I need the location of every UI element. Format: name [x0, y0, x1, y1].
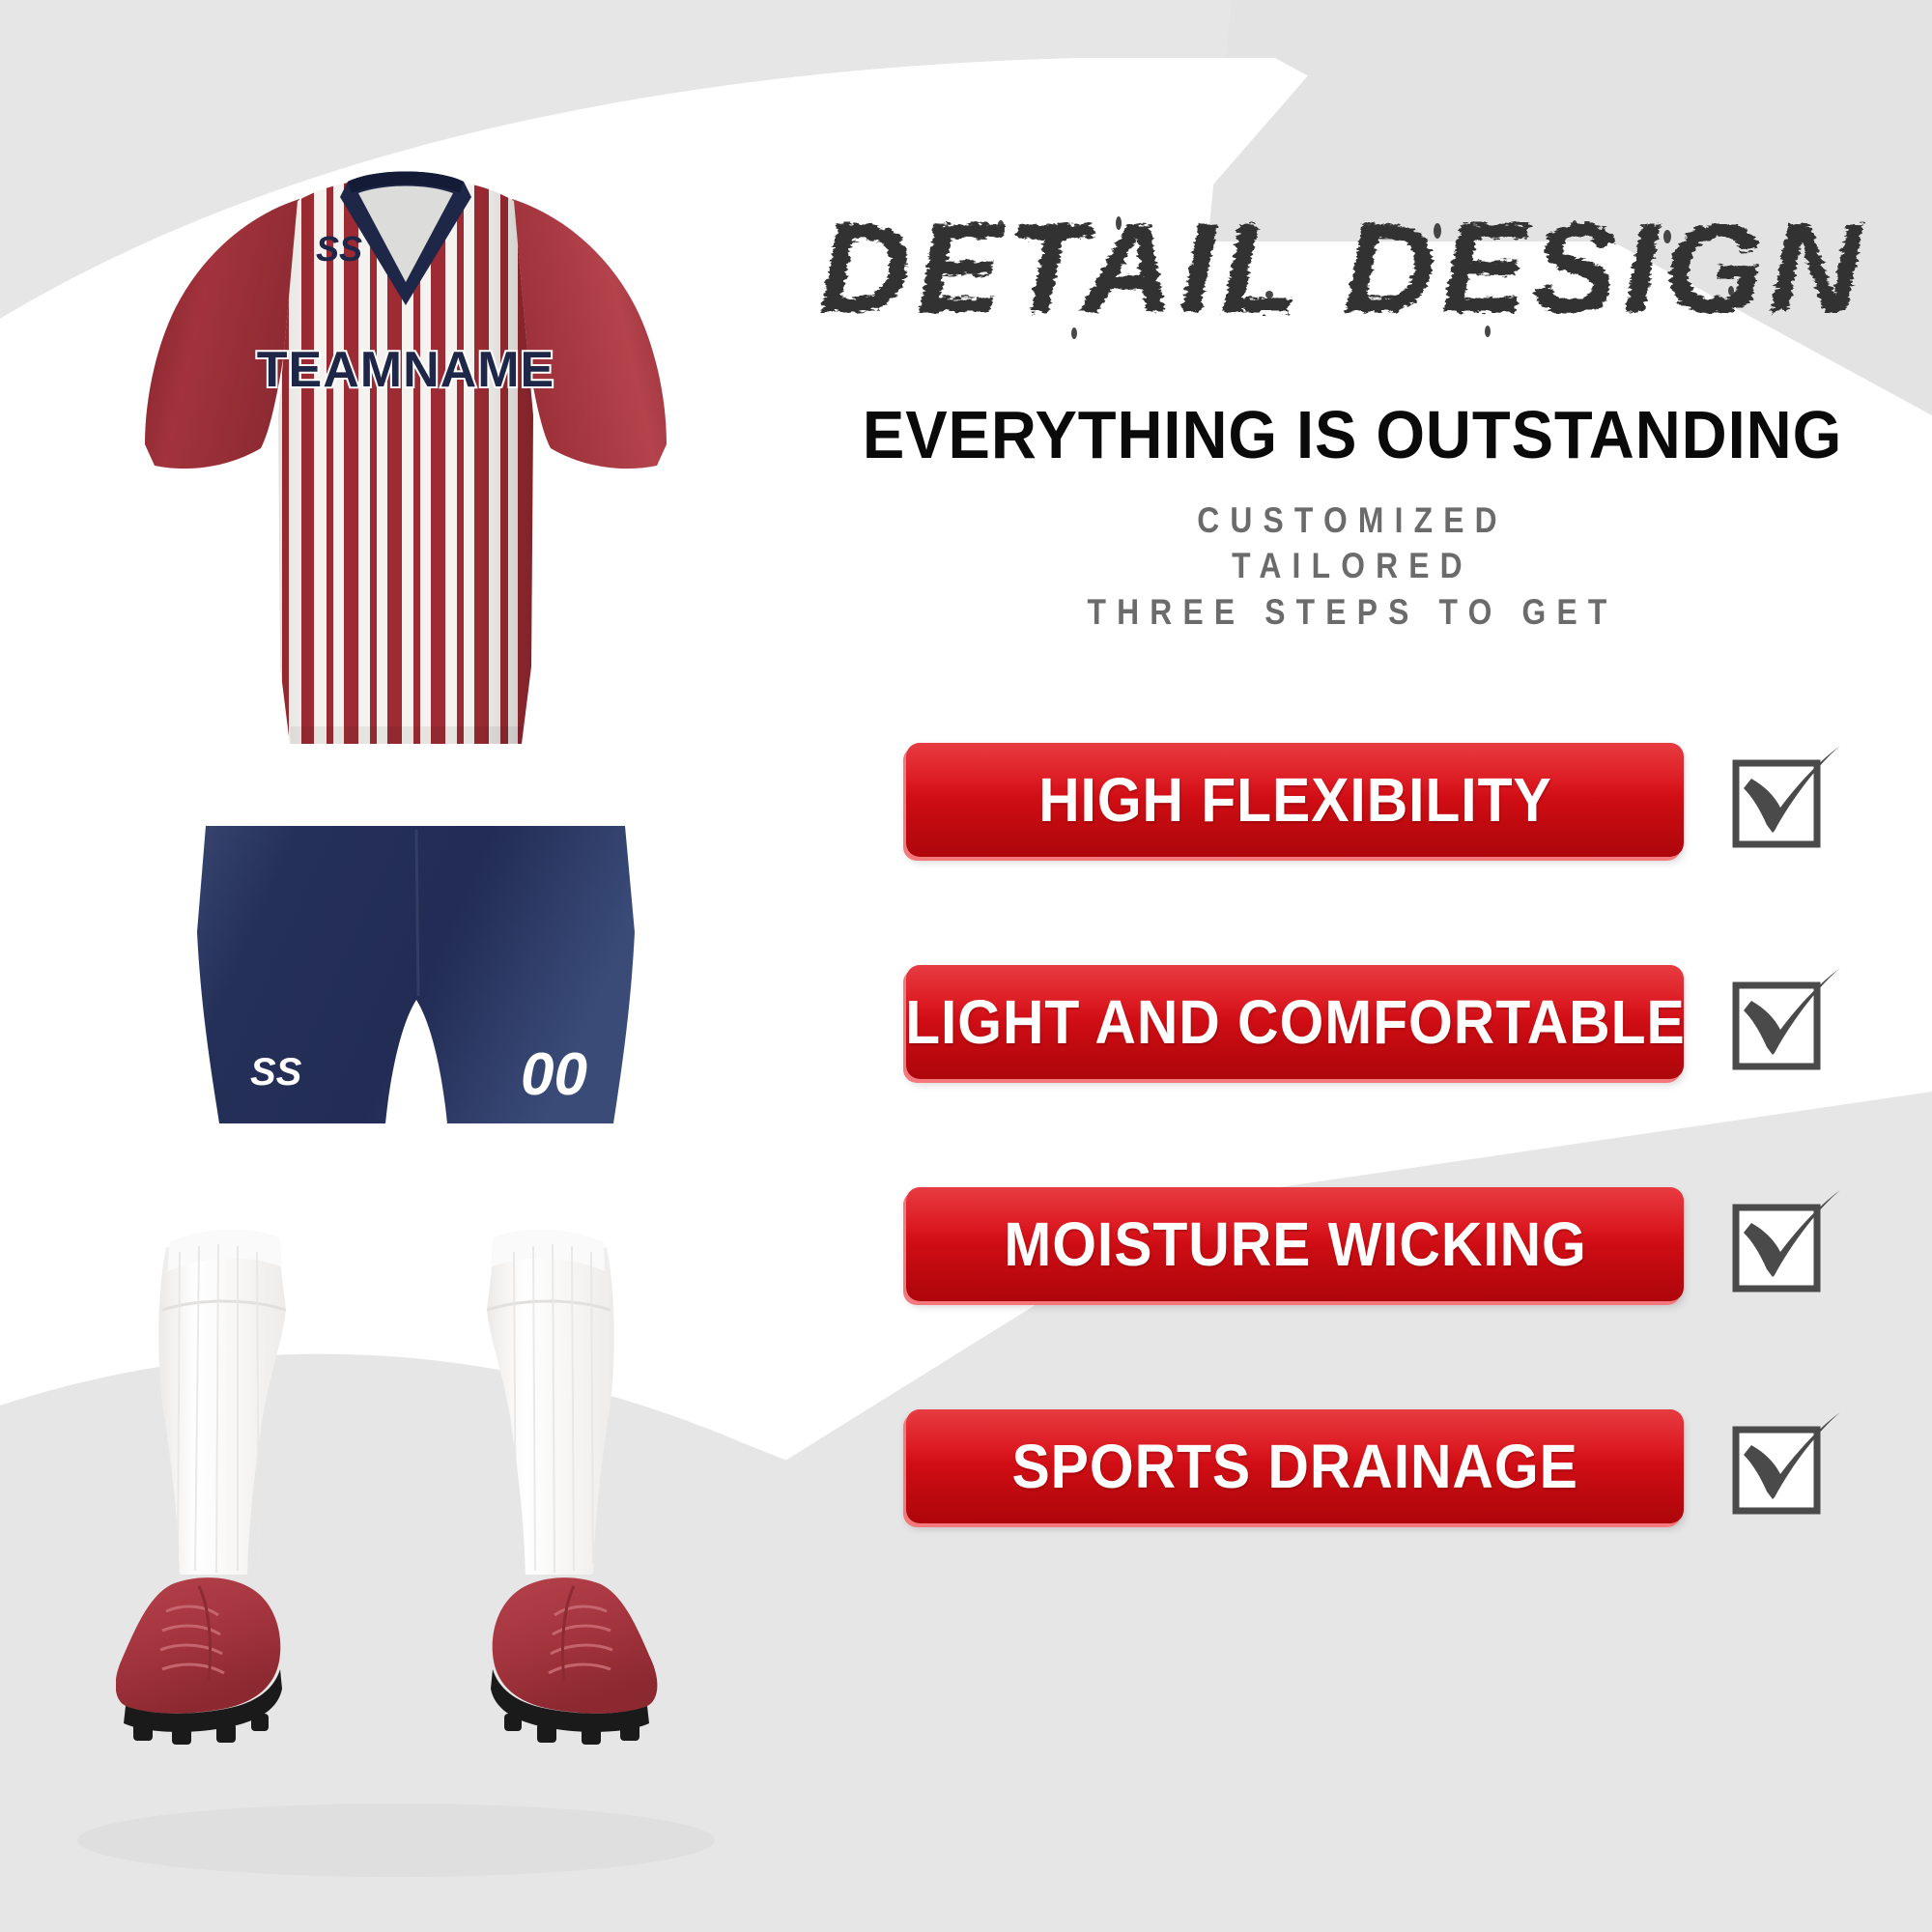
- sock-left: [158, 1230, 286, 1575]
- shorts-logo: SS: [250, 1051, 302, 1094]
- feature-label: LIGHT AND COMFORTABLE: [906, 986, 1684, 1058]
- jersey-left-sleeve: [145, 199, 299, 469]
- feature-label: SPORTS DRAINAGE: [1011, 1431, 1577, 1502]
- checkbox-checked-icon[interactable]: [1724, 740, 1845, 861]
- feature-banner-moisture-wicking[interactable]: MOISTURE WICKING: [906, 1187, 1684, 1301]
- socks-and-shoes-graphic: [116, 1227, 744, 1864]
- feature-banner-light-and-comfortable[interactable]: LIGHT AND COMFORTABLE: [906, 965, 1684, 1079]
- feature-row: SPORTS DRAINAGE: [906, 1408, 1930, 1524]
- feature-label: MOISTURE WICKING: [1004, 1208, 1586, 1280]
- checkbox-checked-icon[interactable]: [1724, 1184, 1845, 1305]
- shoe-right: [491, 1577, 657, 1745]
- jersey-chest-logo: SS: [316, 229, 362, 269]
- sock-right: [487, 1230, 614, 1575]
- svg-text:DETAIL DESIGN: DETAIL DESIGN: [818, 198, 1866, 339]
- feature-label: HIGH FLEXIBILITY: [1038, 764, 1552, 836]
- jersey-graphic: SS TEAMNAME: [116, 126, 696, 850]
- shoe-left: [116, 1577, 282, 1745]
- tagline-1: CUSTOMIZED: [879, 497, 1826, 543]
- shorts-number: 00: [521, 1041, 587, 1108]
- feature-banner-sports-drainage[interactable]: SPORTS DRAINAGE: [906, 1409, 1684, 1523]
- tagline-group: CUSTOMIZED TAILORED THREE STEPS TO GET: [802, 497, 1903, 635]
- feature-row: HIGH FLEXIBILITY: [906, 742, 1930, 858]
- jersey-team-name: TEAMNAME: [257, 342, 554, 398]
- content-column: DETAIL DESIGN EVERYTHING IS OUTSTANDING …: [802, 0, 1932, 1932]
- detail-design-title-art: DETAIL DESIGN: [811, 198, 1874, 343]
- feature-row: LIGHT AND COMFORTABLE: [906, 964, 1930, 1080]
- feature-banner-high-flexibility[interactable]: HIGH FLEXIBILITY: [906, 743, 1684, 857]
- shorts-graphic: SS 00: [188, 816, 642, 1154]
- feature-row: MOISTURE WICKING: [906, 1186, 1930, 1302]
- tagline-3: THREE STEPS TO GET: [879, 589, 1826, 635]
- jersey-right-sleeve: [512, 199, 667, 469]
- page-title: DETAIL DESIGN: [811, 198, 1874, 343]
- feature-list: HIGH FLEXIBILITY LIGHT AND COMFORTABLE: [906, 742, 1930, 1631]
- checkbox-checked-icon[interactable]: [1724, 1406, 1845, 1527]
- checkbox-checked-icon[interactable]: [1724, 962, 1845, 1083]
- tagline-2: TAILORED: [879, 543, 1826, 588]
- subtitle: EVERYTHING IS OUTSTANDING: [840, 396, 1864, 473]
- product-preview-column: SS TEAMNAME SS 00: [0, 0, 869, 1932]
